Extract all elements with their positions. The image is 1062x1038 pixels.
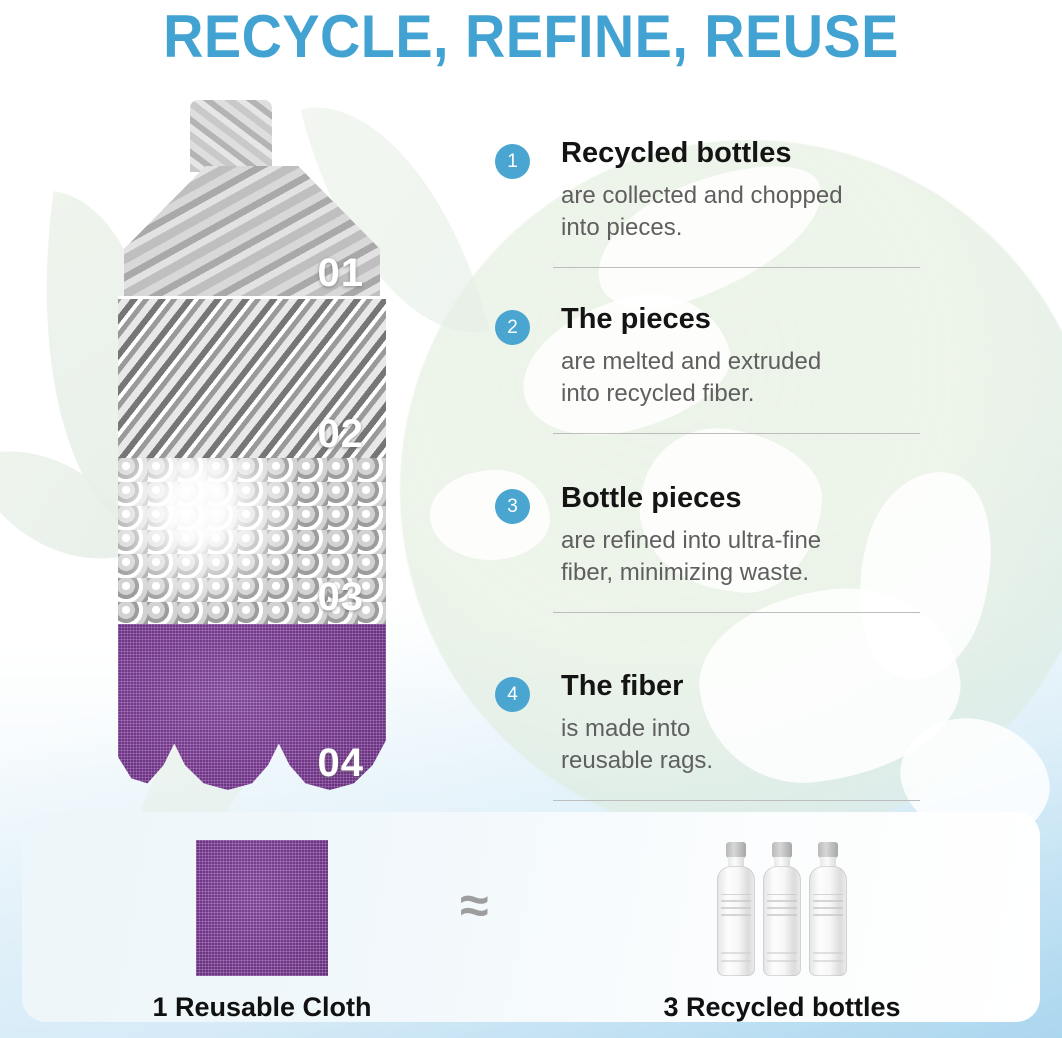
recycled-bottles-group (582, 834, 982, 976)
step-badge-4: 4 (495, 677, 530, 712)
bottle-cap-icon (818, 842, 838, 858)
infographic-canvas: RECYCLE, REFINE, REUSE 01 02 03 04 1 Rec… (0, 0, 1062, 1038)
segment-number-01: 01 (318, 251, 365, 296)
step-body-2: are melted and extruded into recycled fi… (561, 346, 935, 411)
bottle-segment-04: 04 (118, 624, 386, 790)
bottle-segment-02: 02 (118, 296, 386, 464)
bottle-cap-icon (772, 842, 792, 858)
comparison-right-label: 3 Recycled bottles (582, 992, 982, 1023)
step-badge-1: 1 (495, 144, 530, 179)
step-divider-2 (553, 433, 920, 434)
step-body-4: is made into reusable rags. (561, 713, 935, 778)
step-heading-4: The fiber (561, 671, 935, 703)
process-step-1: 1 Recycled bottles are collected and cho… (495, 138, 935, 304)
approximately-equal-icon: ≈ (460, 880, 489, 932)
step-heading-3: Bottle pieces (561, 483, 935, 515)
comparison-left-column: 1 Reusable Cloth (82, 826, 442, 1023)
segment-number-03: 03 (318, 575, 365, 620)
bottle-body-icon (763, 866, 801, 976)
bottle-segment-03: 03 (118, 458, 386, 627)
purple-cloth-swatch (196, 840, 328, 976)
segment-number-04: 04 (318, 741, 365, 786)
bottle-body-icon (809, 866, 847, 976)
process-step-3: 3 Bottle pieces are refined into ultra-f… (495, 483, 935, 671)
comparison-panel: 1 Reusable Cloth (22, 812, 1040, 1022)
page-title: RECYCLE, REFINE, REUSE (37, 2, 1025, 71)
step-body-1: are collected and chopped into pieces. (561, 180, 935, 245)
process-steps-list: 1 Recycled bottles are collected and cho… (495, 138, 935, 837)
plastic-bottle-icon (717, 842, 755, 976)
step-heading-1: Recycled bottles (561, 138, 935, 170)
step-heading-2: The pieces (561, 304, 935, 336)
step-divider-4 (553, 800, 920, 801)
bottle-diagram: 01 02 03 04 (118, 100, 386, 790)
bottle-segment-01: 01 (118, 100, 386, 300)
plastic-bottle-icon (763, 842, 801, 976)
process-step-2: 2 The pieces are melted and extruded int… (495, 304, 935, 483)
step-divider-1 (553, 267, 920, 268)
comparison-left-label: 1 Reusable Cloth (82, 992, 442, 1023)
bottle-cap-icon (726, 842, 746, 858)
comparison-right-column: 3 Recycled bottles (582, 826, 982, 1023)
step-badge-2: 2 (495, 310, 530, 345)
bottle-neck-texture (190, 100, 272, 172)
step-badge-3: 3 (495, 489, 530, 524)
step-divider-3 (553, 612, 920, 613)
step-body-3: are refined into ultra-fine fiber, minim… (561, 525, 935, 590)
plastic-bottle-icon (809, 842, 847, 976)
segment-number-02: 02 (318, 412, 365, 457)
bottle-body-icon (717, 866, 755, 976)
